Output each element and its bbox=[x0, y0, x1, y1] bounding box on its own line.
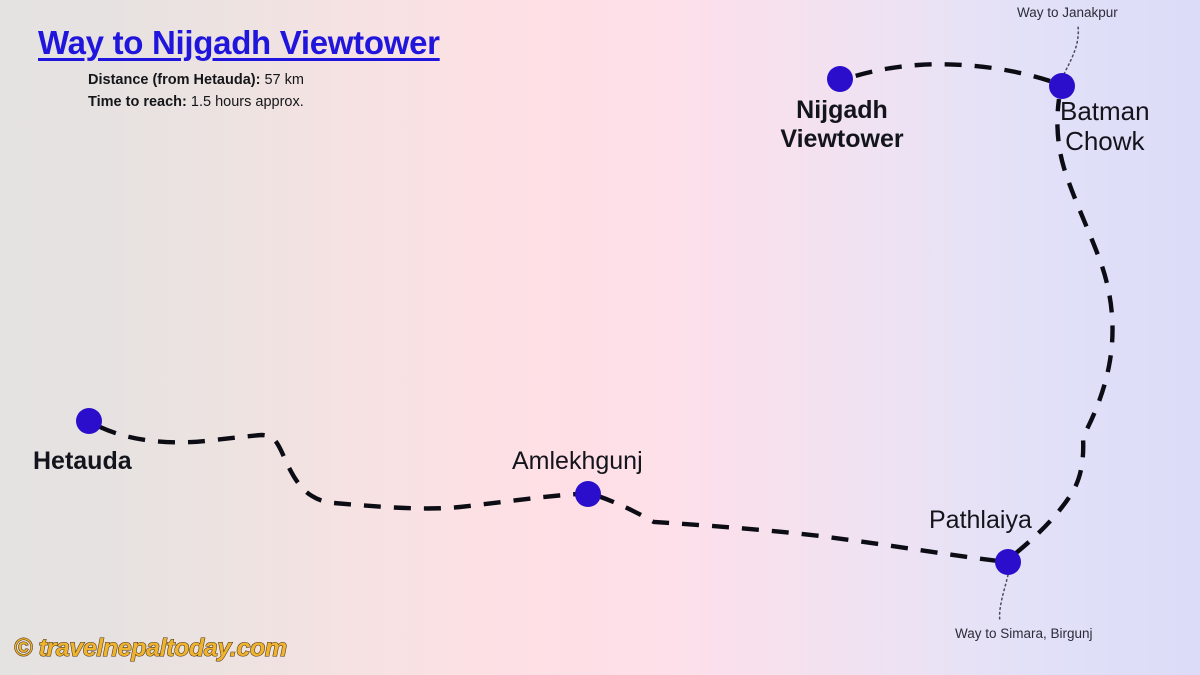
meta-time-value: 1.5 hours approx. bbox=[187, 94, 304, 110]
city-label-batman-line1: Batman bbox=[1060, 96, 1150, 126]
meta-distance-value: 57 km bbox=[260, 72, 304, 88]
city-node-amlekhgunj[interactable] bbox=[575, 481, 601, 507]
meta-time-key: Time to reach: bbox=[88, 94, 187, 110]
city-label-nijgadh-viewtower: Nijgadh Viewtower bbox=[773, 96, 911, 154]
route-segment-batmanchowk-nijgadh bbox=[852, 64, 1050, 81]
route-segment-pathlaiya-batmanchowk bbox=[1016, 99, 1113, 553]
city-label-pathlaiya: Pathlaiya bbox=[929, 506, 1032, 535]
meta-distance-key: Distance (from Hetauda): bbox=[88, 72, 260, 88]
meta-line-time: Time to reach: 1.5 hours approx. bbox=[88, 91, 440, 113]
spur-label-way-to-janakpur: Way to Janakpur bbox=[1017, 5, 1118, 20]
watermark-travelnepaltoday: © travelnepaltoday.com bbox=[14, 634, 287, 663]
route-segment-hetauda-amlekhgunj bbox=[100, 427, 578, 508]
city-label-nijgadh-line1: Nijgadh bbox=[773, 96, 911, 125]
spur-line-way-to-janakpur bbox=[1064, 26, 1078, 74]
city-node-hetauda[interactable] bbox=[76, 408, 102, 434]
city-label-amlekhgunj: Amlekhgunj bbox=[512, 447, 643, 476]
city-label-batman-line2: Chowk bbox=[1060, 126, 1150, 156]
map-canvas: Hetauda Amlekhgunj Pathlaiya Nijgadh Vie… bbox=[0, 0, 1200, 675]
city-node-nijgadh-viewtower[interactable] bbox=[827, 66, 853, 92]
city-label-nijgadh-line2: Viewtower bbox=[773, 125, 911, 154]
city-node-pathlaiya[interactable] bbox=[995, 549, 1021, 575]
spur-line-way-to-simara bbox=[1000, 575, 1008, 622]
city-label-batman-chowk: Batman Chowk bbox=[1060, 96, 1150, 156]
city-label-hetauda: Hetauda bbox=[33, 447, 132, 476]
spur-label-way-to-simara: Way to Simara, Birgunj bbox=[955, 626, 1093, 641]
page-title: Way to Nijgadh Viewtower bbox=[38, 26, 440, 61]
meta-line-distance: Distance (from Hetauda): 57 km bbox=[88, 69, 440, 91]
header-block: Way to Nijgadh Viewtower Distance (from … bbox=[38, 26, 440, 113]
meta-block: Distance (from Hetauda): 57 km Time to r… bbox=[88, 69, 440, 113]
